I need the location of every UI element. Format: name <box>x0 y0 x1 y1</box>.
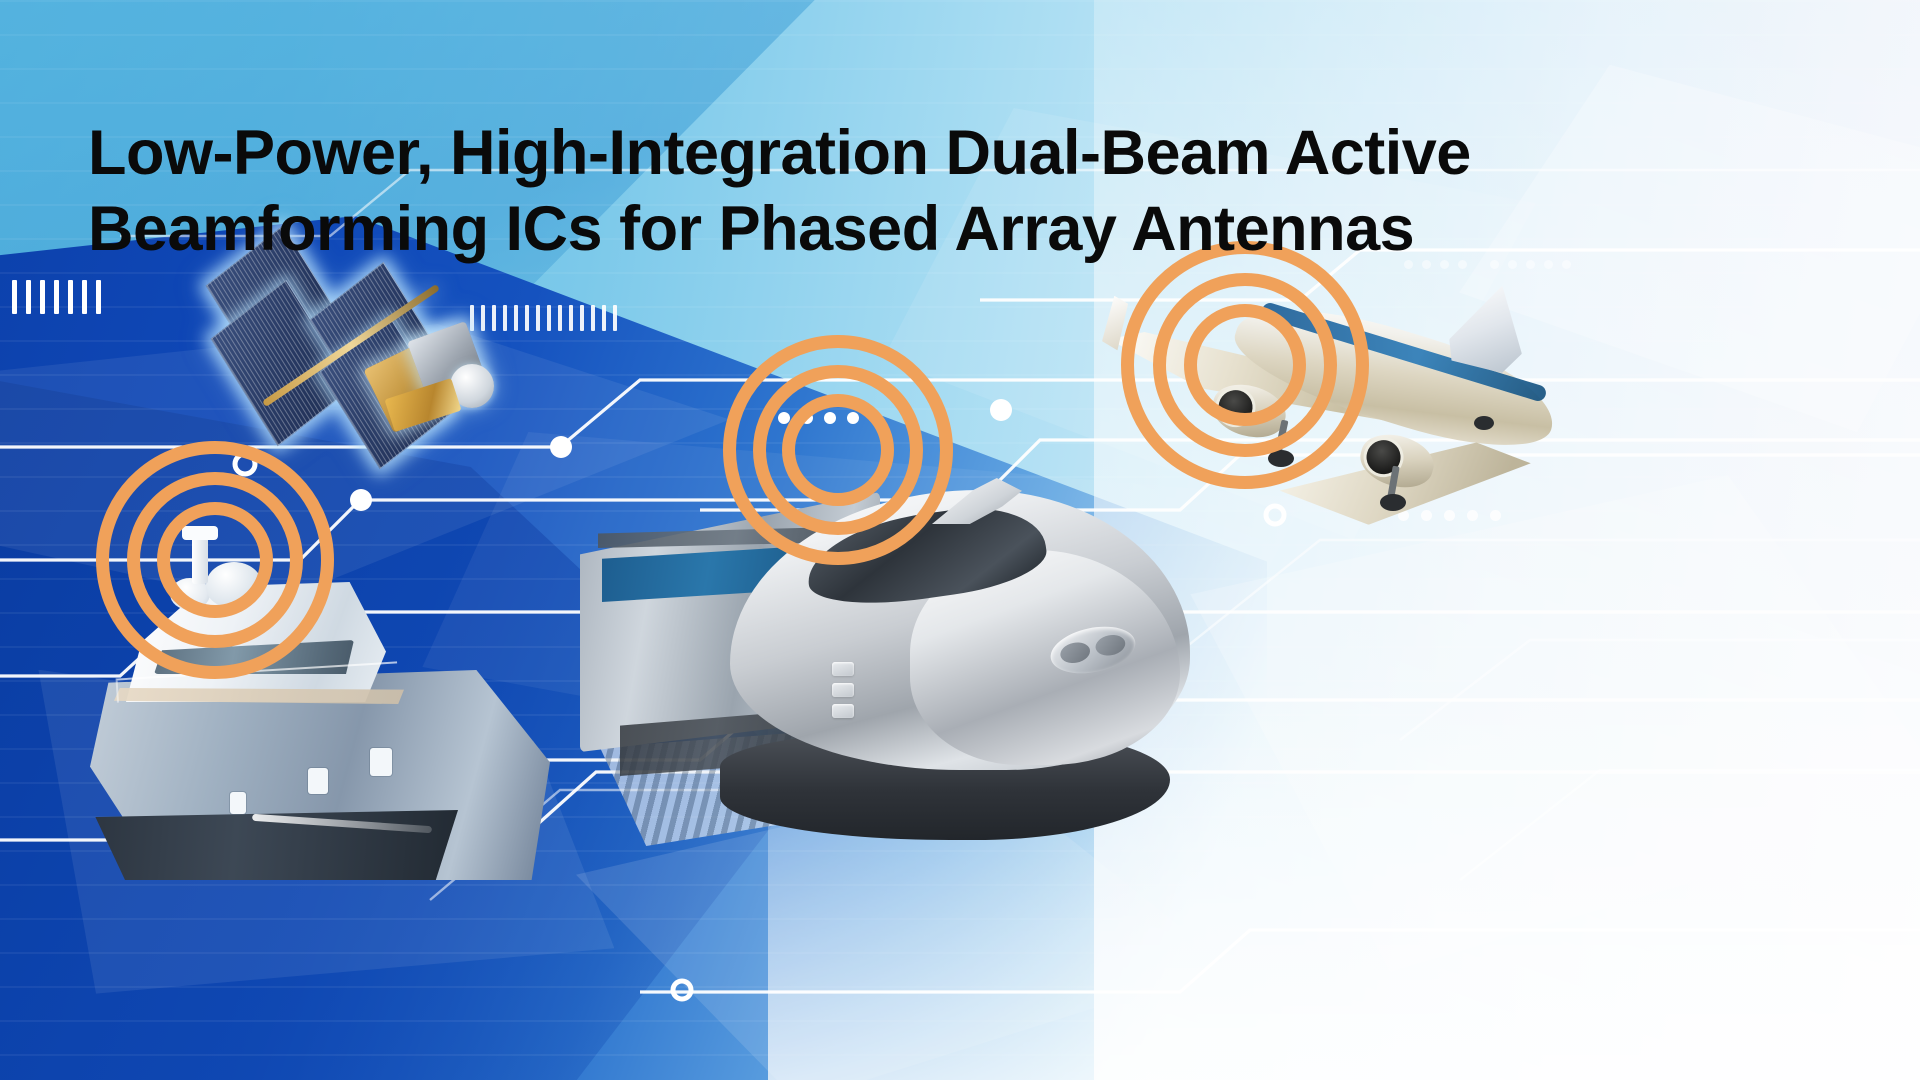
beam-ring-inner <box>1184 304 1306 426</box>
airplane-nose-gear <box>1474 416 1494 430</box>
train-side-vents <box>832 662 854 724</box>
airplane-landing-gear-2 <box>1380 494 1406 511</box>
airplane-tail-fin <box>1445 278 1533 376</box>
banner-title: Low-Power, High-Integration Dual-Beam Ac… <box>88 116 1828 267</box>
yacht-porthole-2 <box>370 748 392 776</box>
yacht-porthole-1 <box>308 768 328 794</box>
beam-ring-inner <box>782 394 894 506</box>
tick-group-left <box>12 280 101 314</box>
beam-ring-inner <box>157 502 273 618</box>
banner-stage: Low-Power, High-Integration Dual-Beam Ac… <box>0 0 1920 1080</box>
yacht-porthole-3 <box>230 792 246 814</box>
satellite-illustration <box>228 238 508 438</box>
